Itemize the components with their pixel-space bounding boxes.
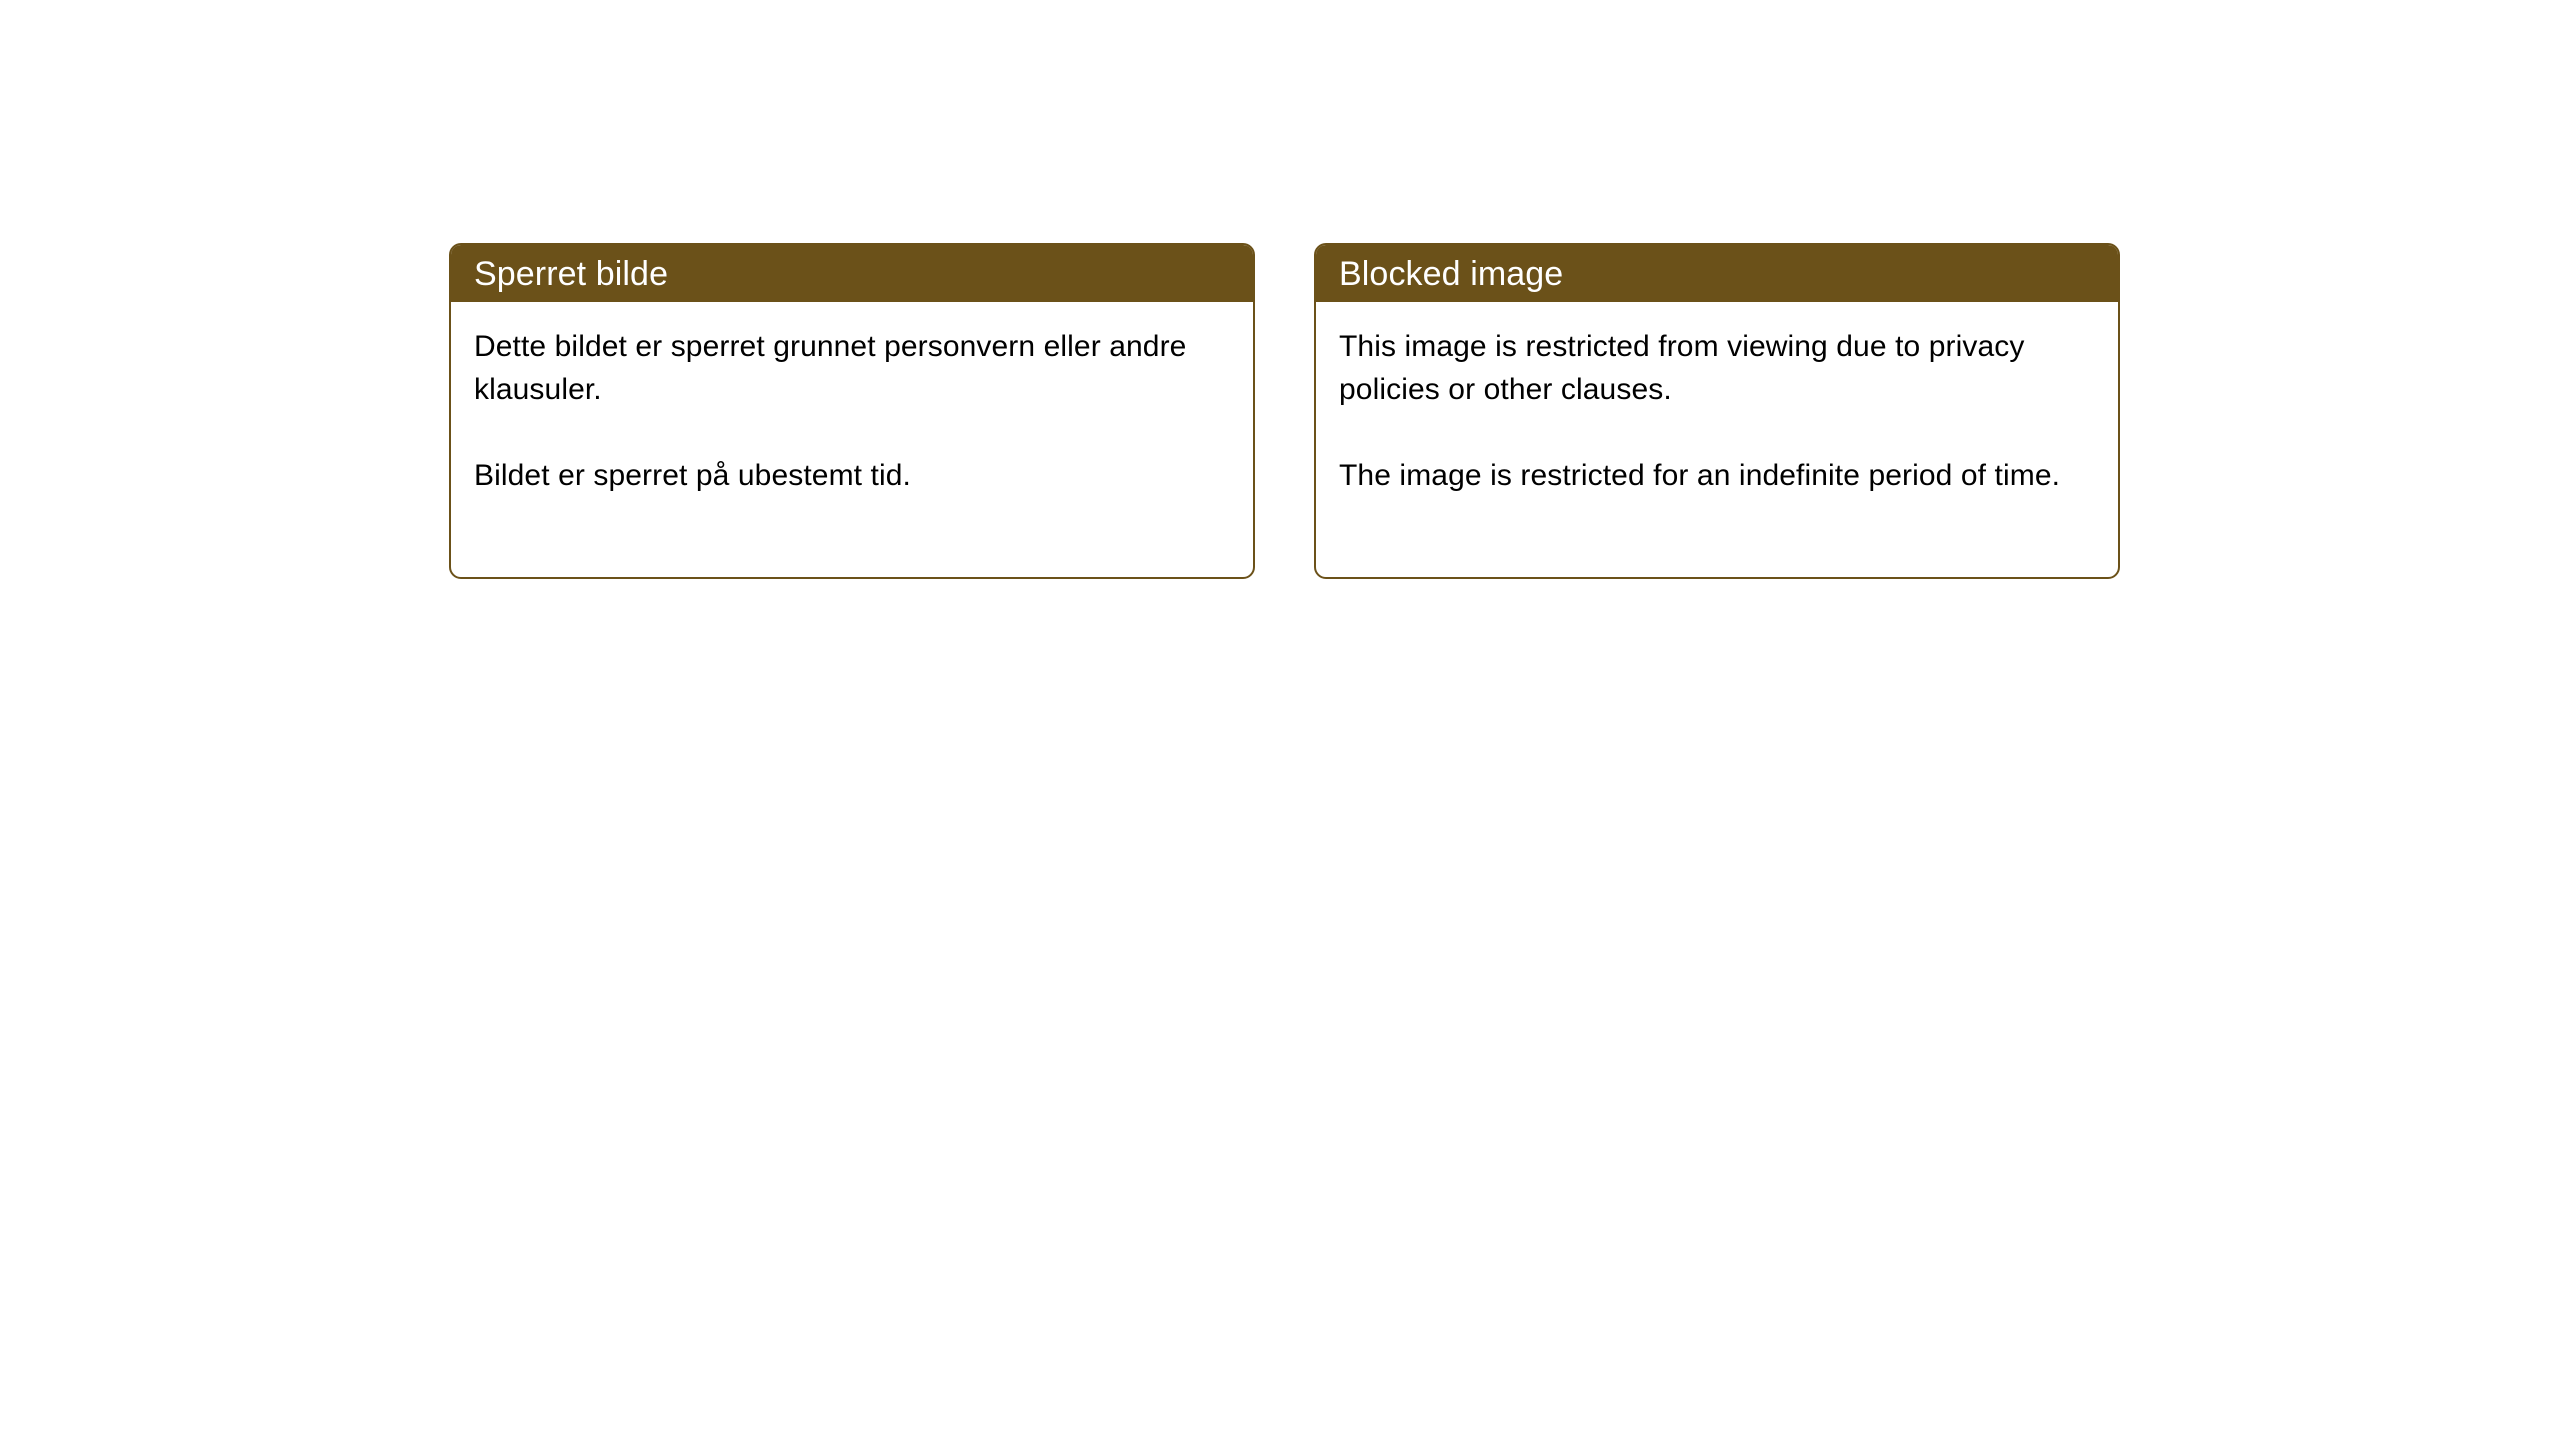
card-paragraph-norwegian-2: Bildet er sperret på ubestemt tid. <box>474 454 1229 497</box>
blocked-image-card-norwegian: Sperret bilde Dette bildet er sperret gr… <box>449 243 1255 579</box>
card-body-english: This image is restricted from viewing du… <box>1316 302 2118 577</box>
card-paragraph-english-2: The image is restricted for an indefinit… <box>1339 454 2094 497</box>
card-header-english: Blocked image <box>1316 245 2118 302</box>
card-paragraph-english-1: This image is restricted from viewing du… <box>1339 325 2094 411</box>
card-paragraph-norwegian-1: Dette bildet er sperret grunnet personve… <box>474 325 1229 411</box>
blocked-image-card-english: Blocked image This image is restricted f… <box>1314 243 2120 579</box>
card-header-norwegian: Sperret bilde <box>451 245 1253 302</box>
card-title-norwegian: Sperret bilde <box>474 255 668 293</box>
blocked-image-notice-area: Sperret bilde Dette bildet er sperret gr… <box>449 243 2120 579</box>
card-title-english: Blocked image <box>1339 255 1563 293</box>
card-body-norwegian: Dette bildet er sperret grunnet personve… <box>451 302 1253 577</box>
